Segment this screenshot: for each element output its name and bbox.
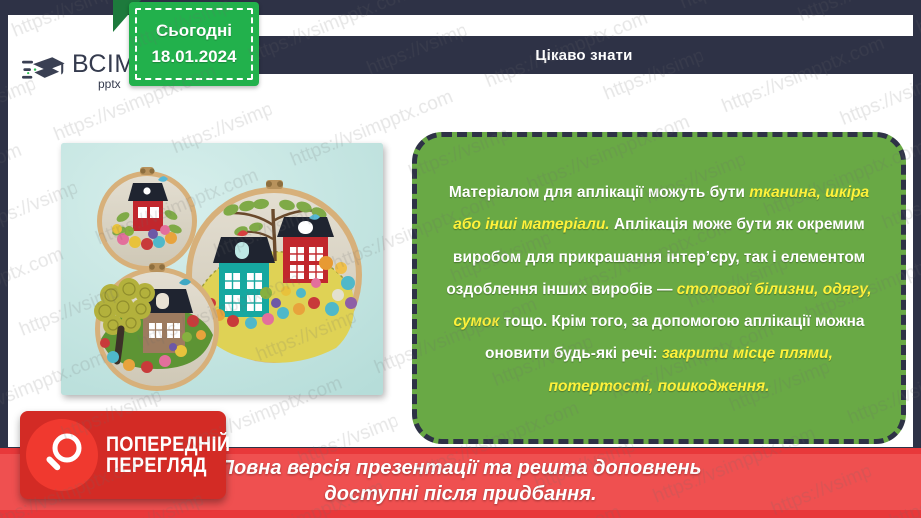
fact-text: Матеріалом для аплікації можуть бути тка… [443, 177, 875, 403]
fact-box: Матеріалом для аплікації можуть бути тка… [412, 132, 906, 444]
applique-photo [61, 143, 383, 395]
preview-word-1: ПОПЕРЕДНІЙ [106, 434, 230, 455]
slide-header-bar: Цікаво знати [255, 36, 913, 74]
fact-seg-0: Матеріалом для аплікації можуть бути [449, 184, 749, 201]
slide-root: ВСІМ pptx [0, 0, 921, 518]
applique-photo-graphic [61, 143, 383, 395]
graduation-cap-icon [22, 54, 66, 88]
date-value: 18.01.2024 [151, 47, 236, 67]
page-title: Цікаво знати [535, 47, 632, 64]
banner-line-2: доступні після придбання. [324, 482, 596, 508]
magnifier-glyph [37, 430, 87, 480]
banner-line-1: Повна версія презентації та решта доповн… [220, 456, 702, 482]
date-label: Сьогодні [156, 21, 232, 41]
preview-word-2: ПЕРЕГЛЯД [106, 455, 230, 476]
preview-badge[interactable]: ПОПЕРЕДНІЙ ПЕРЕГЛЯД [20, 411, 226, 499]
preview-badge-label: ПОПЕРЕДНІЙ ПЕРЕГЛЯД [106, 434, 251, 477]
magnifier-icon [26, 419, 98, 491]
cut-off-text: п [12, 432, 19, 444]
date-tab-body: Сьогодні 18.01.2024 [129, 2, 259, 86]
today-date-tab: Сьогодні 18.01.2024 [113, 0, 263, 88]
